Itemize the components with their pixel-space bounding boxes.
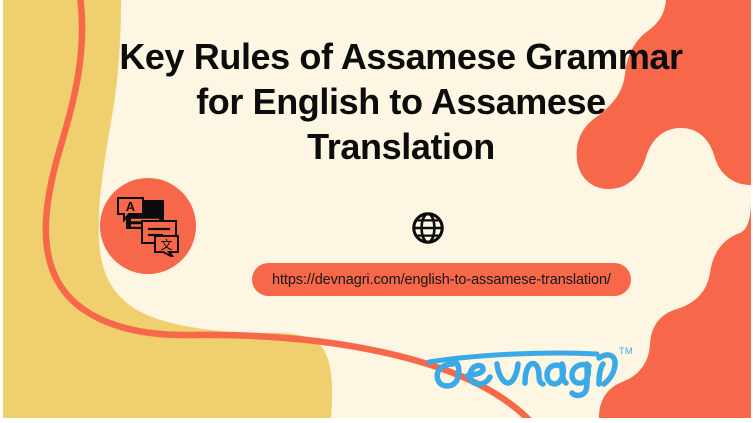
title-line-2: for English to Assamese [111,79,691,124]
url-text: https://devnagri.com/english-to-assamese… [272,272,611,288]
url-pill[interactable]: https://devnagri.com/english-to-assamese… [252,263,631,296]
translate-icon-badge: A 文 [100,178,196,274]
devnagri-logo: TM [423,338,638,400]
globe-icon [409,209,447,247]
translate-speech-bubbles-icon: A 文 [115,195,181,257]
title-line-1: Key Rules of Assamese Grammar [111,34,691,79]
translate-cjk-glyph: 文 [160,237,172,252]
page-title: Key Rules of Assamese Grammar for Englis… [111,34,691,169]
title-line-3: Translation [111,124,691,169]
poster-inner-canvas: Key Rules of Assamese Grammar for Englis… [3,0,751,418]
translate-latin-glyph: A [126,199,136,214]
logo-trademark: TM [619,346,633,356]
logo-wordmark [429,353,615,395]
poster-canvas: Key Rules of Assamese Grammar for Englis… [0,0,753,423]
